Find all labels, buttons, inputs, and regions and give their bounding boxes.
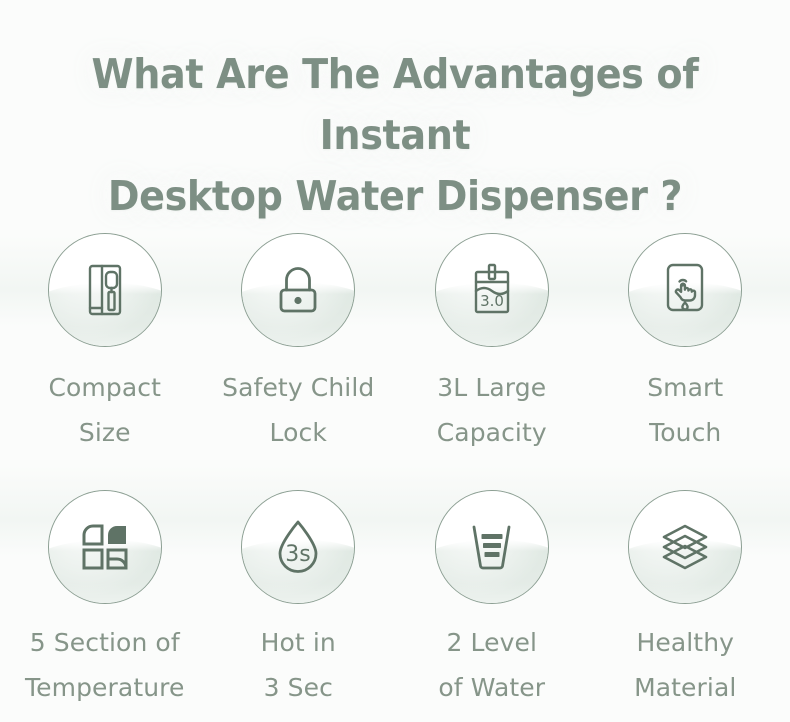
- feature-label: Safety Child Lock: [222, 365, 374, 455]
- feature-item-2-level-of-water: 2 Level of Water: [395, 490, 589, 722]
- stacked-layers-icon: [654, 516, 716, 578]
- advantages-poster: What Are The Advantages of Instant Deskt…: [0, 0, 790, 722]
- feature-icon-badge: [628, 490, 742, 604]
- cup-water-level-icon: [461, 516, 523, 578]
- feature-icon-badge: 3.0: [435, 233, 549, 347]
- feature-icon-badge: [241, 233, 355, 347]
- feature-label: Hot in 3 Sec: [261, 620, 336, 710]
- water-tank-icon: 3.0: [461, 259, 523, 321]
- feature-item-smart-touch: Smart Touch: [589, 233, 783, 494]
- feature-label: Healthy Material: [634, 620, 736, 710]
- touch-panel-hand-icon: [654, 259, 716, 321]
- feature-item-healthy-material: Healthy Material: [589, 490, 783, 722]
- page-title: What Are The Advantages of Instant Deskt…: [51, 44, 739, 227]
- feature-item-hot-in-3-sec: 3s Hot in 3 Sec: [202, 490, 396, 722]
- tank-capacity-value: 3.0: [480, 292, 504, 310]
- water-dispenser-icon: [74, 259, 136, 321]
- feature-label: Smart Touch: [647, 365, 723, 455]
- feature-label: Compact Size: [48, 365, 161, 455]
- feature-item-3l-large-capacity: 3.0 3L Large Capacity: [395, 233, 589, 494]
- droplet-seconds-value: 3s: [286, 542, 311, 567]
- feature-item-safety-child-lock: Safety Child Lock: [202, 233, 396, 494]
- feature-label: 5 Section of Temperature Control: [25, 620, 184, 722]
- feature-item-temperature-control: 5 Section of Temperature Control: [8, 490, 202, 722]
- feature-label: 2 Level of Water: [438, 620, 545, 710]
- padlock-icon: [267, 259, 329, 321]
- feature-label: 3L Large Capacity: [437, 365, 547, 455]
- feature-icon-badge: [435, 490, 549, 604]
- feature-icon-badge: [628, 233, 742, 347]
- feature-item-compact-size: Compact Size: [8, 233, 202, 494]
- feature-icon-badge: [48, 233, 162, 347]
- feature-icon-badge: [48, 490, 162, 604]
- features-grid: Compact Size Safety Child Lock: [0, 227, 790, 722]
- four-squares-grid-icon: [76, 518, 134, 576]
- feature-icon-badge: 3s: [241, 490, 355, 604]
- water-droplet-3s-icon: 3s: [267, 516, 329, 578]
